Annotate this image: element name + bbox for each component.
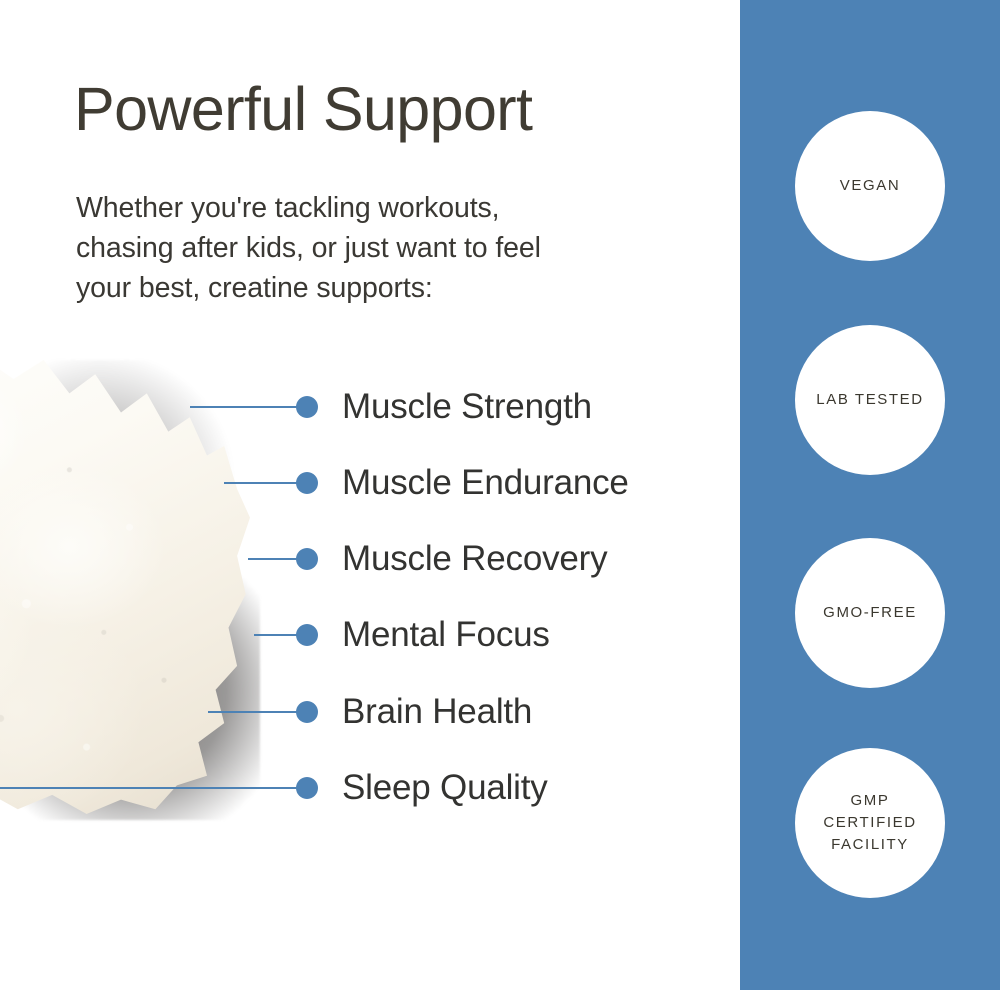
connector-line [208, 711, 302, 713]
bullet-dot-icon [296, 701, 318, 723]
bullet-dot-icon [296, 624, 318, 646]
infographic-canvas: Powerful Support Whether you're tackling… [0, 0, 1000, 1000]
badge-label: GMP CERTIFIED FACILITY [817, 790, 922, 855]
badge-label: LAB TESTED [810, 389, 929, 411]
badge-label: GMO-FREE [817, 602, 923, 624]
benefit-label: Mental Focus [342, 612, 550, 658]
badge-lab-tested: LAB TESTED [795, 325, 945, 475]
benefit-label: Muscle Recovery [342, 536, 607, 582]
bullet-dot-icon [296, 548, 318, 570]
bullet-dot-icon [296, 472, 318, 494]
badge-label: VEGAN [834, 175, 907, 197]
badge-gmo-free: GMO-FREE [795, 538, 945, 688]
benefit-label: Muscle Strength [342, 384, 592, 430]
bullet-dot-icon [296, 777, 318, 799]
connector-line [254, 634, 302, 636]
connector-line [0, 787, 302, 789]
creatine-powder-image [0, 336, 290, 836]
benefit-label: Muscle Endurance [342, 460, 629, 506]
benefit-label: Sleep Quality [342, 765, 548, 811]
badge-vegan: VEGAN [795, 111, 945, 261]
connector-line [224, 482, 302, 484]
powder-shadow [0, 360, 260, 820]
badge-gmp-certified-facility: GMP CERTIFIED FACILITY [795, 748, 945, 898]
benefit-label: Brain Health [342, 689, 532, 735]
page-title: Powerful Support [74, 77, 532, 141]
bullet-dot-icon [296, 396, 318, 418]
connector-line [190, 406, 302, 408]
connector-line [248, 558, 302, 560]
intro-paragraph: Whether you're tackling workouts, chasin… [76, 188, 676, 308]
